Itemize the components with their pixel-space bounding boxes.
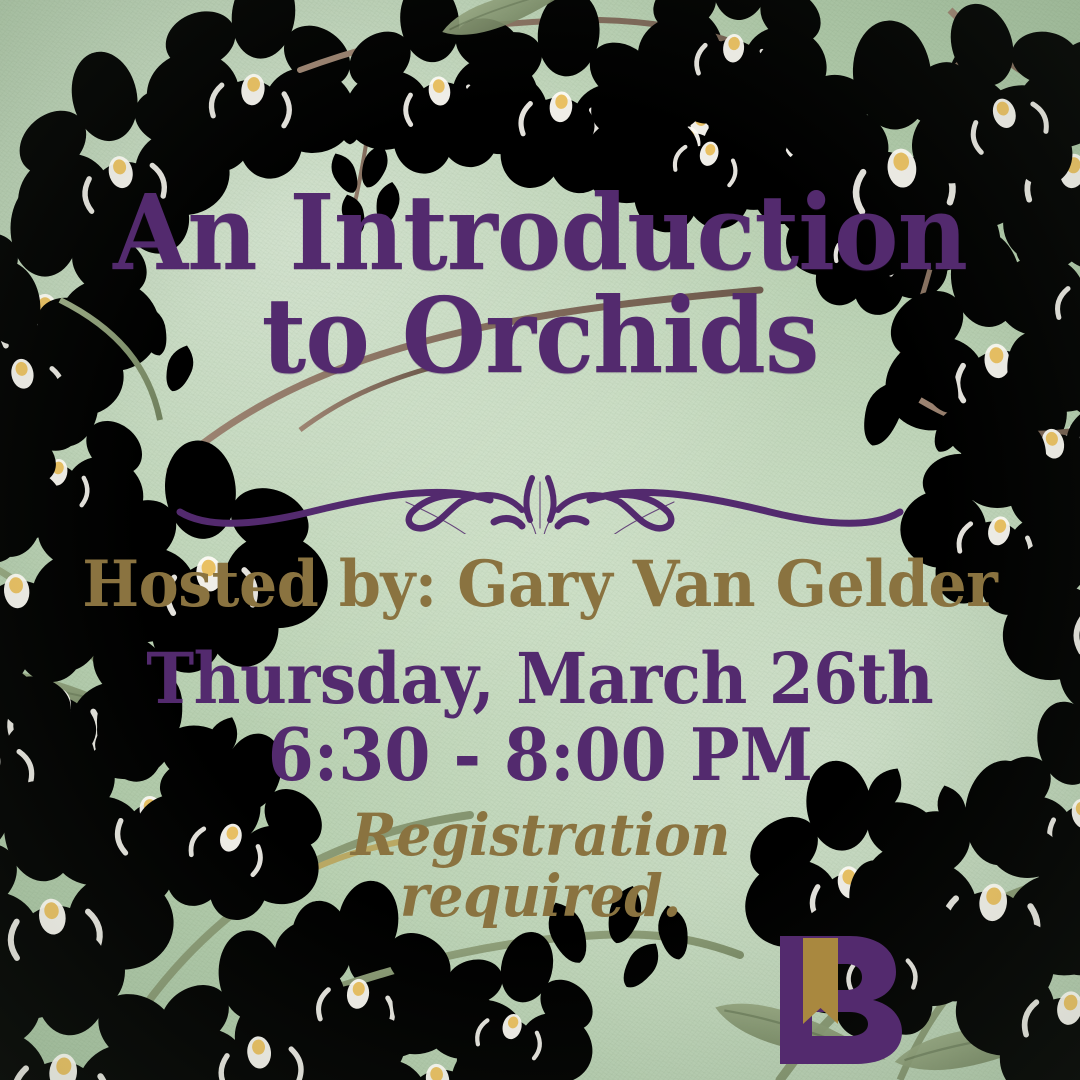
logo-letter-b	[780, 936, 902, 1064]
event-date: Thursday, March 26th	[146, 643, 933, 714]
event-time: 6:30 - 8:00 PM	[267, 718, 812, 791]
page-title: An Introduction to Orchids	[113, 182, 967, 388]
title-line-2: to Orchids	[113, 285, 967, 388]
registration-note: Registration required.	[350, 805, 729, 926]
orchid-event-poster: .lav .p{fill:url(#gLav);stroke:#9a63b8;s…	[0, 0, 1080, 1080]
poster-content: An Introduction to Orchids	[0, 0, 1080, 1080]
registration-line-2: required.	[350, 866, 729, 926]
library-logo	[772, 928, 922, 1068]
ornamental-divider-icon	[160, 472, 920, 539]
registration-line-1: Registration	[350, 801, 729, 869]
host-line: Hosted by: Gary Van Gelder	[82, 553, 997, 617]
